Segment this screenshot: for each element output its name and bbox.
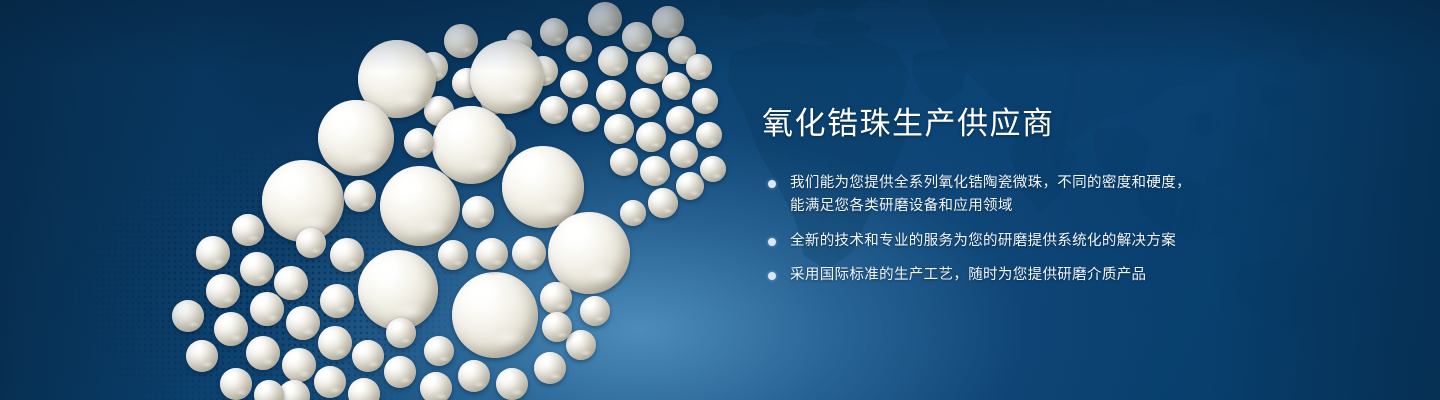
list-item-line: 我们能为您提供全系列氧化锆陶瓷微珠，不同的密度和硬度， — [790, 172, 1322, 195]
bullet-dot-icon — [768, 180, 776, 188]
bullet-dot-icon — [768, 238, 776, 246]
list-item-line: 全新的技术和专业的服务为您的研磨提供系统化的解决方案 — [790, 230, 1322, 253]
feature-list: 我们能为您提供全系列氧化锆陶瓷微珠，不同的密度和硬度， 能满足您各类研磨设备和应… — [762, 172, 1322, 288]
bullet-dot-icon — [768, 272, 776, 280]
list-item: 全新的技术和专业的服务为您的研磨提供系统化的解决方案 — [762, 230, 1322, 253]
list-item: 采用国际标准的生产工艺，随时为您提供研磨介质产品 — [762, 264, 1322, 287]
page-title: 氧化锆珠生产供应商 — [762, 104, 1322, 144]
list-item-line: 采用国际标准的生产工艺，随时为您提供研磨介质产品 — [790, 264, 1322, 287]
banner-content: 氧化锆珠生产供应商 我们能为您提供全系列氧化锆陶瓷微珠，不同的密度和硬度， 能满… — [762, 104, 1322, 288]
list-item: 我们能为您提供全系列氧化锆陶瓷微珠，不同的密度和硬度， 能满足您各类研磨设备和应… — [762, 172, 1322, 219]
list-item-line: 能满足您各类研磨设备和应用领域 — [790, 195, 1322, 218]
hero-banner: 氧化锆珠生产供应商 我们能为您提供全系列氧化锆陶瓷微珠，不同的密度和硬度， 能满… — [0, 0, 1440, 400]
